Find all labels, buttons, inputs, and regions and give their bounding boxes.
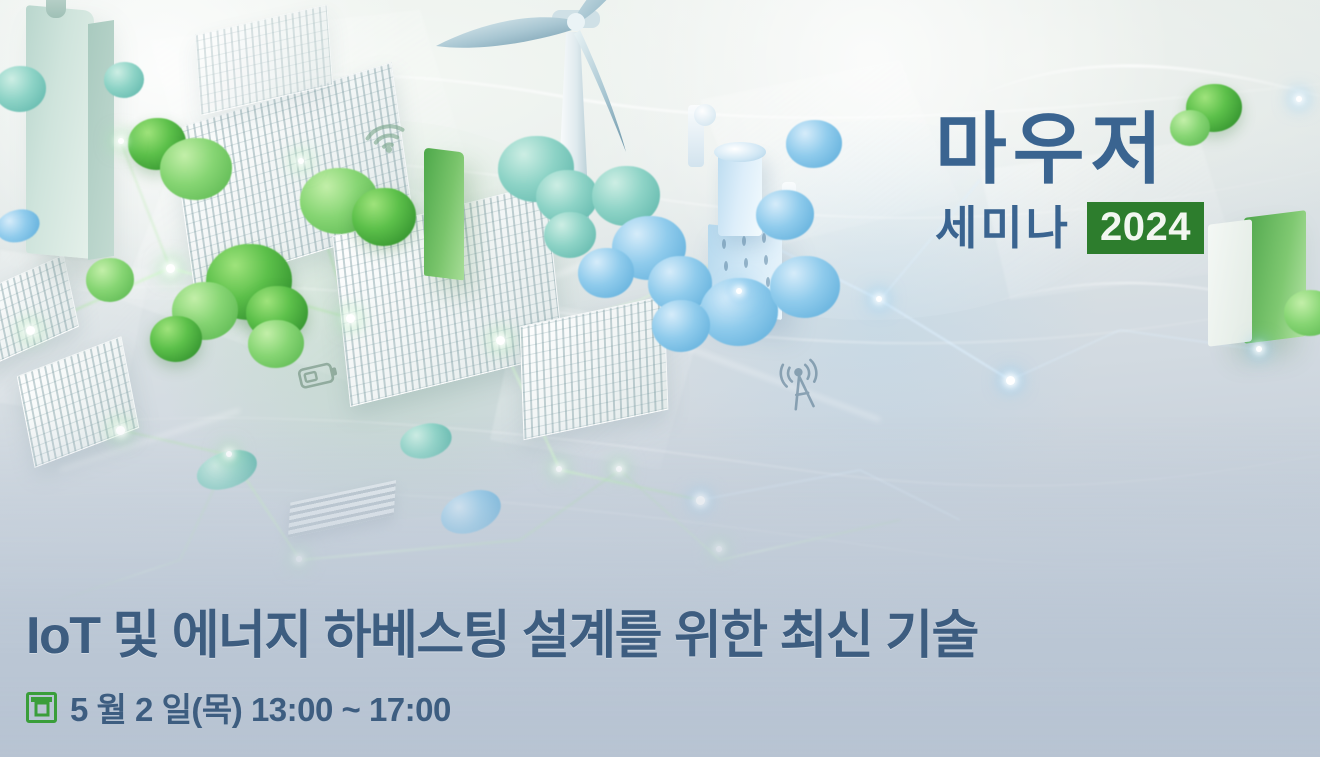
page-title: IoT 및 에너지 하베스팅 설계를 위한 최신 기술 (26, 607, 1320, 665)
schedule-row: 5 월 2 일(목) 13:00 ~ 17:00 (26, 683, 1320, 731)
schedule-text: 5 월 2 일(목) 13:00 ~ 17:00 (70, 683, 451, 731)
logo-year-badge: 2024 (1087, 202, 1204, 254)
logo-subtitle-text: 세미나 (935, 205, 1071, 251)
headline-block: IoT 및 에너지 하베스팅 설계를 위한 최신 기술 5 월 2 일(목) 1… (0, 557, 1320, 757)
logo-subtitle-row: 세미나 2024 (935, 202, 1204, 254)
logo-brand-text: 마우저 (935, 110, 1204, 188)
event-logo: 마우저 세미나 2024 (935, 110, 1204, 254)
seminar-banner: 마우저 세미나 2024 IoT 및 에너지 하베스팅 설계를 위한 최신 기술… (0, 0, 1320, 757)
calendar-icon (26, 692, 57, 723)
